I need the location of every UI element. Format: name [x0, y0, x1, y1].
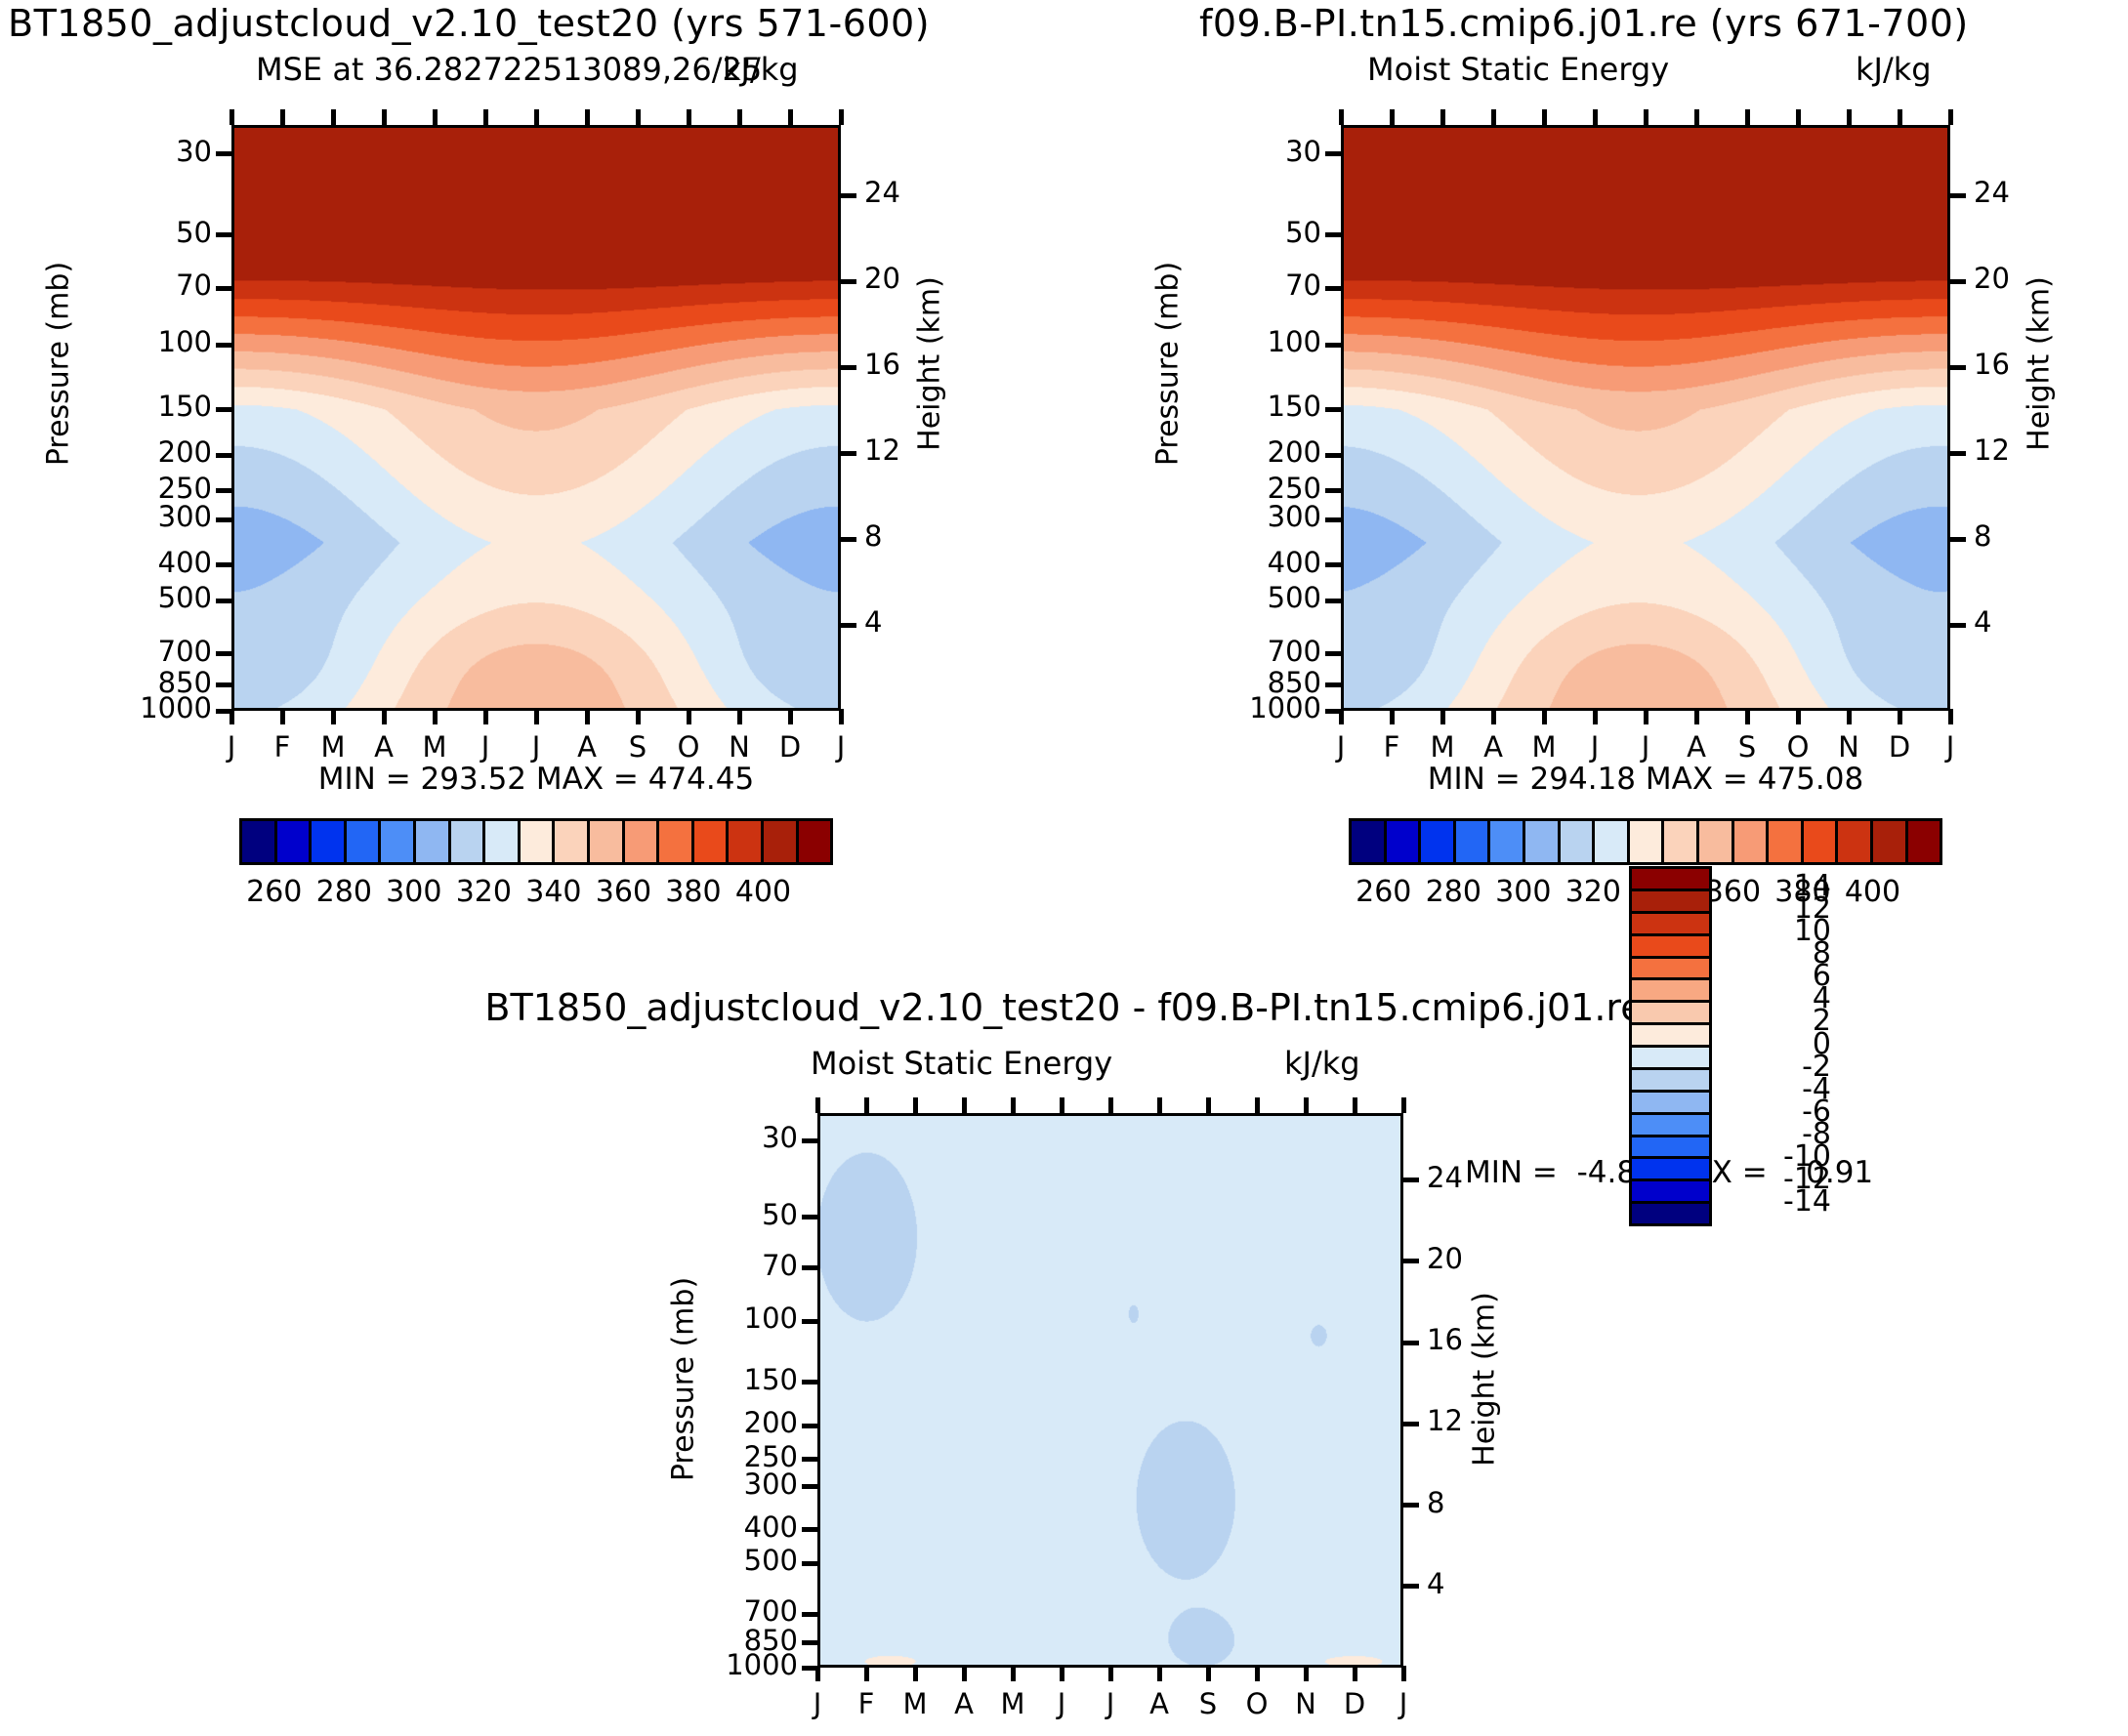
- colorbar-swatch[interactable]: [1632, 1204, 1709, 1223]
- colorbar-swatch[interactable]: [1632, 980, 1709, 1003]
- height-tick-mark: [1948, 537, 1966, 542]
- height-tick-mark: [1948, 623, 1966, 628]
- month-tick-mark: [433, 709, 438, 724]
- height-tick-mark: [1401, 1341, 1419, 1345]
- month-tick-label: N: [715, 730, 764, 764]
- month-tick-label: M: [410, 730, 459, 764]
- height-tick-label: 20: [1974, 262, 2042, 295]
- month-tick-label: O: [1773, 730, 1822, 764]
- pressure-tick-mark: [216, 407, 233, 412]
- month-tick-label: D: [1330, 1687, 1379, 1720]
- colorbar-swatch[interactable]: [694, 821, 730, 862]
- pressure-tick-mark: [1325, 517, 1343, 522]
- pressure-tick-mark: [802, 1457, 819, 1462]
- pressure-tick-mark: [802, 1527, 819, 1532]
- pressure-tick-label: 1000: [671, 1648, 798, 1681]
- colorbar-swatch[interactable]: [590, 821, 625, 862]
- height-tick-label: 16: [1974, 348, 2042, 381]
- pressure-tick-label: 400: [1194, 546, 1321, 579]
- month-tick-mark: [1390, 709, 1395, 724]
- panel-right-plot-area[interactable]: [1341, 125, 1950, 711]
- top-tick-mark: [1353, 1097, 1357, 1113]
- pressure-tick-mark: [1325, 453, 1343, 458]
- colorbar-swatch[interactable]: [1769, 821, 1804, 862]
- pressure-tick-label: 1000: [1194, 691, 1321, 724]
- month-tick-label: N: [1824, 730, 1873, 764]
- month-tick-mark: [962, 1666, 967, 1681]
- top-tick-mark: [1644, 109, 1648, 125]
- top-tick-mark: [1339, 109, 1344, 125]
- pressure-tick-mark: [802, 1138, 819, 1143]
- top-tick-mark: [636, 109, 641, 125]
- pressure-tick-label: 100: [1194, 325, 1321, 358]
- month-tick-label: J: [1379, 1687, 1428, 1720]
- month-tick-mark: [1304, 1666, 1309, 1681]
- top-tick-mark: [1796, 109, 1801, 125]
- panel-right-colorbar[interactable]: [1349, 818, 1942, 865]
- colorbar-swatch[interactable]: [1632, 1025, 1709, 1048]
- colorbar-swatch[interactable]: [1632, 1070, 1709, 1093]
- top-tick-mark: [913, 1097, 918, 1113]
- month-tick-label: J: [512, 730, 561, 764]
- panel-right-subtitle-units: kJ/kg: [1856, 51, 1932, 88]
- top-tick-mark: [1542, 109, 1547, 125]
- top-tick-mark: [1157, 1097, 1162, 1113]
- height-tick-label: 20: [1427, 1242, 1495, 1275]
- pressure-tick-mark: [216, 343, 233, 348]
- top-tick-mark: [382, 109, 387, 125]
- colorbar-swatch[interactable]: [555, 821, 590, 862]
- month-tick-mark: [1255, 1666, 1260, 1681]
- panel-left-title: BT1850_adjustcloud_v2.10_test20 (yrs 571…: [8, 2, 930, 45]
- pressure-tick-label: 30: [1194, 135, 1321, 168]
- height-tick-label: 24: [864, 176, 933, 209]
- top-tick-mark: [1390, 109, 1395, 125]
- pressure-tick-mark: [216, 599, 233, 603]
- pressure-tick-label: 500: [1194, 581, 1321, 614]
- pressure-tick-mark: [216, 562, 233, 567]
- month-tick-mark: [1948, 709, 1953, 724]
- month-tick-mark: [1011, 1666, 1016, 1681]
- top-tick-mark: [1011, 1097, 1016, 1113]
- month-tick-mark: [815, 1666, 820, 1681]
- colorbar-swatch[interactable]: [1525, 821, 1561, 862]
- height-tick-label: 8: [864, 519, 933, 553]
- pressure-tick-mark: [1325, 682, 1343, 687]
- colorbar-swatch[interactable]: [451, 821, 486, 862]
- colorbar-swatch[interactable]: [1632, 1003, 1709, 1025]
- height-tick-label: 16: [864, 348, 933, 381]
- height-tick-mark: [839, 451, 856, 456]
- panel-right-mse: f09.B-PI.tn15.cmip6.j01.re (yrs 671-700)…: [1102, 0, 1981, 918]
- pressure-tick-mark: [802, 1612, 819, 1617]
- pressure-tick-label: 300: [1194, 500, 1321, 533]
- top-tick-mark: [534, 109, 539, 125]
- top-tick-mark: [815, 1097, 820, 1113]
- height-tick-label: 24: [1974, 176, 2042, 209]
- colorbar-swatch[interactable]: [1632, 1115, 1709, 1137]
- colorbar-swatch[interactable]: [1561, 821, 1596, 862]
- month-tick-mark: [1108, 1666, 1113, 1681]
- colorbar-swatch[interactable]: [381, 821, 416, 862]
- colorbar-swatch[interactable]: [277, 821, 313, 862]
- pressure-tick-mark: [1325, 232, 1343, 237]
- pressure-tick-mark: [802, 1265, 819, 1270]
- month-tick-label: J: [1037, 1687, 1086, 1720]
- colorbar-swatch[interactable]: [1632, 1093, 1709, 1115]
- month-tick-label: S: [613, 730, 662, 764]
- month-tick-label: J: [1086, 1687, 1135, 1720]
- height-tick-mark: [1401, 1584, 1419, 1589]
- height-tick-mark: [839, 623, 856, 628]
- month-tick-mark: [483, 709, 488, 724]
- height-tick-mark: [1401, 1503, 1419, 1508]
- month-tick-mark: [1440, 709, 1445, 724]
- pressure-tick-label: 50: [1194, 216, 1321, 249]
- panel-left-colorbar[interactable]: [239, 818, 833, 865]
- month-tick-label: M: [1520, 730, 1568, 764]
- panel-left-mse: BT1850_adjustcloud_v2.10_test20 (yrs 571…: [0, 0, 879, 918]
- colorbar-swatch[interactable]: [1804, 821, 1839, 862]
- panel-diff-subtitle-units: kJ/kg: [1284, 1045, 1360, 1082]
- month-tick-mark: [1847, 709, 1852, 724]
- colorbar-swatch[interactable]: [1632, 936, 1709, 959]
- height-tick-mark: [1948, 279, 1966, 284]
- month-tick-mark: [839, 709, 844, 724]
- month-tick-mark: [913, 1666, 918, 1681]
- colorbar-swatch[interactable]: [1387, 821, 1422, 862]
- pressure-tick-label: 70: [1194, 269, 1321, 302]
- pressure-tick-label: 70: [671, 1249, 798, 1282]
- month-tick-label: J: [1926, 730, 1975, 764]
- pressure-tick-mark: [216, 651, 233, 656]
- colorbar-tick-label: 400: [1828, 875, 1916, 909]
- height-tick-mark: [1401, 1422, 1419, 1426]
- panel-left-plot-area[interactable]: [231, 125, 841, 711]
- top-tick-mark: [1255, 1097, 1260, 1113]
- colorbar-swatch[interactable]: [1664, 821, 1699, 862]
- pressure-tick-mark: [216, 682, 233, 687]
- pressure-tick-label: 50: [85, 216, 212, 249]
- colorbar-swatch[interactable]: [1632, 1181, 1709, 1204]
- height-tick-mark: [1948, 451, 1966, 456]
- pressure-tick-mark: [1325, 151, 1343, 156]
- height-tick-mark: [1401, 1259, 1419, 1263]
- top-tick-mark: [1206, 1097, 1211, 1113]
- pressure-tick-label: 500: [85, 581, 212, 614]
- month-tick-label: S: [1184, 1687, 1232, 1720]
- pressure-tick-mark: [1325, 599, 1343, 603]
- height-tick-mark: [1948, 193, 1966, 198]
- top-tick-mark: [1694, 109, 1699, 125]
- colorbar-swatch[interactable]: [1699, 821, 1734, 862]
- month-tick-label: A: [1672, 730, 1721, 764]
- colorbar-swatch[interactable]: [729, 821, 764, 862]
- pressure-tick-label: 500: [671, 1544, 798, 1577]
- height-tick-mark: [839, 365, 856, 370]
- panel-right-title: f09.B-PI.tn15.cmip6.j01.re (yrs 671-700): [1199, 2, 1969, 45]
- pressure-tick-mark: [1325, 343, 1343, 348]
- colorbar-swatch[interactable]: [1595, 821, 1630, 862]
- height-tick-label: 8: [1427, 1486, 1495, 1519]
- month-tick-label: J: [1621, 730, 1670, 764]
- pressure-tick-label: 1000: [85, 691, 212, 724]
- panel-right-subtitle: Moist Static Energy: [1367, 51, 1669, 88]
- pressure-tick-label: 700: [1194, 635, 1321, 668]
- month-tick-label: M: [891, 1687, 939, 1720]
- month-tick-label: D: [1875, 730, 1924, 764]
- pressure-tick-label: 150: [85, 390, 212, 423]
- month-tick-label: J: [1316, 730, 1365, 764]
- month-tick-mark: [1898, 709, 1902, 724]
- top-tick-mark: [1593, 109, 1598, 125]
- height-tick-mark: [1948, 365, 1966, 370]
- top-tick-mark: [229, 109, 234, 125]
- pressure-tick-label: 30: [671, 1121, 798, 1154]
- month-tick-label: J: [816, 730, 865, 764]
- pressure-tick-label: 400: [671, 1510, 798, 1544]
- top-tick-mark: [737, 109, 742, 125]
- height-tick-mark: [839, 279, 856, 284]
- height-tick-label: 8: [1974, 519, 2042, 553]
- month-tick-label: J: [793, 1687, 842, 1720]
- month-tick-label: F: [1367, 730, 1416, 764]
- colorbar-swatch[interactable]: [1352, 821, 1387, 862]
- pressure-tick-label: 300: [85, 500, 212, 533]
- colorbar-swatch[interactable]: [347, 821, 382, 862]
- top-tick-mark: [433, 109, 438, 125]
- month-tick-label: D: [766, 730, 814, 764]
- month-tick-label: J: [207, 730, 256, 764]
- pressure-tick-mark: [802, 1424, 819, 1428]
- month-tick-mark: [382, 709, 387, 724]
- panel-diff: BT1850_adjustcloud_v2.10_test20 - f09.B-…: [0, 957, 2128, 1736]
- panel-left-minmax: MIN = 293.52 MAX = 474.45: [231, 762, 841, 797]
- colorbar-swatch[interactable]: [1632, 869, 1709, 891]
- height-tick-label: 12: [1974, 434, 2042, 467]
- top-tick-mark: [962, 1097, 967, 1113]
- top-tick-mark: [1745, 109, 1750, 125]
- panel-diff-ylabel-height: Height (km): [1468, 1262, 1502, 1497]
- pressure-tick-label: 100: [85, 325, 212, 358]
- colorbar-swatch[interactable]: [1873, 821, 1908, 862]
- month-tick-label: J: [461, 730, 510, 764]
- top-tick-mark: [331, 109, 336, 125]
- pressure-tick-mark: [216, 151, 233, 156]
- height-tick-label: 4: [1427, 1567, 1495, 1600]
- month-tick-mark: [534, 709, 539, 724]
- pressure-tick-mark: [216, 286, 233, 291]
- height-tick-mark: [839, 537, 856, 542]
- panel-left-ylabel-pressure: Pressure (mb): [42, 247, 76, 481]
- month-tick-mark: [229, 709, 234, 724]
- month-tick-label: M: [988, 1687, 1037, 1720]
- month-tick-mark: [737, 709, 742, 724]
- panel-right-minmax: MIN = 294.18 MAX = 475.08: [1341, 762, 1950, 797]
- pressure-tick-mark: [216, 453, 233, 458]
- panel-left-subtitle: MSE at 36.282722513089,26/25: [256, 51, 762, 88]
- top-tick-mark: [585, 109, 590, 125]
- height-tick-label: 20: [864, 262, 933, 295]
- pressure-tick-label: 200: [85, 435, 212, 469]
- height-tick-label: 12: [864, 434, 933, 467]
- height-tick-label: 4: [1974, 605, 2042, 639]
- colorbar-swatch[interactable]: [799, 821, 831, 862]
- colorbar-swatch[interactable]: [1632, 1048, 1709, 1070]
- height-tick-mark: [839, 193, 856, 198]
- pressure-tick-mark: [802, 1484, 819, 1489]
- pressure-tick-label: 30: [85, 135, 212, 168]
- month-tick-label: O: [664, 730, 713, 764]
- pressure-tick-label: 150: [1194, 390, 1321, 423]
- top-tick-mark: [1401, 1097, 1406, 1113]
- pressure-tick-label: 300: [671, 1467, 798, 1501]
- top-tick-mark: [788, 109, 793, 125]
- month-tick-label: F: [258, 730, 307, 764]
- pressure-tick-label: 70: [85, 269, 212, 302]
- colorbar-swatch[interactable]: [312, 821, 347, 862]
- top-tick-mark: [839, 109, 844, 125]
- pressure-tick-label: 400: [85, 546, 212, 579]
- pressure-tick-label: 200: [1194, 435, 1321, 469]
- top-tick-mark: [1847, 109, 1852, 125]
- colorbar-swatch[interactable]: [1490, 821, 1525, 862]
- month-tick-mark: [1491, 709, 1496, 724]
- month-tick-mark: [1353, 1666, 1357, 1681]
- top-tick-mark: [1304, 1097, 1309, 1113]
- pressure-tick-mark: [1325, 407, 1343, 412]
- colorbar-swatch[interactable]: [1632, 891, 1709, 914]
- pressure-tick-mark: [802, 1319, 819, 1324]
- month-tick-mark: [1401, 1666, 1406, 1681]
- panel-diff-plot-area[interactable]: [817, 1113, 1403, 1668]
- month-tick-mark: [1206, 1666, 1211, 1681]
- height-tick-label: 16: [1427, 1323, 1495, 1356]
- month-tick-mark: [864, 1666, 869, 1681]
- month-tick-label: A: [1469, 730, 1518, 764]
- colorbar-swatch[interactable]: [485, 821, 521, 862]
- colorbar-swatch[interactable]: [659, 821, 694, 862]
- month-tick-label: M: [309, 730, 357, 764]
- colorbar-tick-label: -14: [1724, 1184, 1831, 1219]
- pressure-tick-label: 50: [671, 1198, 798, 1231]
- height-tick-label: 4: [864, 605, 933, 639]
- month-tick-mark: [636, 709, 641, 724]
- colorbar-swatch[interactable]: [1838, 821, 1873, 862]
- panel-right-ylabel-pressure: Pressure (mb): [1151, 247, 1186, 481]
- month-tick-label: S: [1723, 730, 1772, 764]
- pressure-tick-mark: [802, 1561, 819, 1566]
- month-tick-mark: [687, 709, 691, 724]
- month-tick-mark: [1542, 709, 1547, 724]
- top-tick-mark: [280, 109, 285, 125]
- colorbar-swatch[interactable]: [625, 821, 660, 862]
- month-tick-label: O: [1232, 1687, 1281, 1720]
- colorbar-swatch[interactable]: [521, 821, 556, 862]
- panel-diff-colorbar[interactable]: [1629, 866, 1712, 1226]
- month-tick-mark: [1157, 1666, 1162, 1681]
- pressure-tick-mark: [802, 1640, 819, 1645]
- pressure-tick-mark: [1325, 651, 1343, 656]
- month-tick-mark: [280, 709, 285, 724]
- colorbar-swatch[interactable]: [1908, 821, 1940, 862]
- month-tick-label: F: [842, 1687, 891, 1720]
- panel-left-subtitle-units: kJ/kg: [723, 51, 799, 88]
- top-tick-mark: [1948, 109, 1953, 125]
- pressure-tick-mark: [1325, 488, 1343, 493]
- month-tick-label: A: [939, 1687, 988, 1720]
- height-tick-mark: [1401, 1178, 1419, 1182]
- pressure-tick-label: 200: [671, 1406, 798, 1439]
- pressure-tick-label: 150: [671, 1363, 798, 1396]
- pressure-tick-mark: [216, 488, 233, 493]
- colorbar-swatch[interactable]: [1630, 821, 1665, 862]
- month-tick-mark: [331, 709, 336, 724]
- colorbar-swatch[interactable]: [1421, 821, 1456, 862]
- pressure-tick-mark: [216, 517, 233, 522]
- pressure-tick-label: 100: [671, 1302, 798, 1335]
- top-tick-mark: [1440, 109, 1445, 125]
- month-tick-mark: [1694, 709, 1699, 724]
- top-tick-mark: [1108, 1097, 1113, 1113]
- top-tick-mark: [687, 109, 691, 125]
- top-tick-mark: [1060, 1097, 1064, 1113]
- month-tick-mark: [788, 709, 793, 724]
- top-tick-mark: [1491, 109, 1496, 125]
- colorbar-swatch[interactable]: [764, 821, 799, 862]
- pressure-tick-label: 700: [85, 635, 212, 668]
- month-tick-label: N: [1281, 1687, 1330, 1720]
- colorbar-tick-label: 400: [719, 875, 807, 909]
- colorbar-swatch[interactable]: [416, 821, 451, 862]
- month-tick-label: J: [1570, 730, 1619, 764]
- month-tick-mark: [585, 709, 590, 724]
- colorbar-swatch[interactable]: [1632, 959, 1709, 981]
- colorbar-swatch[interactable]: [1734, 821, 1770, 862]
- pressure-tick-mark: [216, 232, 233, 237]
- panel-diff-subtitle: Moist Static Energy: [811, 1045, 1112, 1082]
- month-tick-mark: [1796, 709, 1801, 724]
- colorbar-swatch[interactable]: [1456, 821, 1491, 862]
- colorbar-swatch[interactable]: [242, 821, 277, 862]
- month-tick-label: A: [563, 730, 611, 764]
- pressure-tick-mark: [802, 1215, 819, 1219]
- pressure-tick-mark: [1325, 562, 1343, 567]
- colorbar-swatch[interactable]: [1632, 1137, 1709, 1160]
- top-tick-mark: [483, 109, 488, 125]
- month-tick-mark: [1745, 709, 1750, 724]
- height-tick-label: 12: [1427, 1404, 1495, 1437]
- pressure-tick-mark: [802, 1380, 819, 1385]
- pressure-tick-label: 700: [671, 1594, 798, 1628]
- month-tick-mark: [1339, 709, 1344, 724]
- colorbar-swatch[interactable]: [1632, 914, 1709, 936]
- pressure-tick-mark: [1325, 286, 1343, 291]
- top-tick-mark: [1898, 109, 1902, 125]
- month-tick-mark: [1060, 1666, 1064, 1681]
- month-tick-mark: [1593, 709, 1598, 724]
- month-tick-label: M: [1418, 730, 1467, 764]
- month-tick-label: A: [359, 730, 408, 764]
- colorbar-swatch[interactable]: [1632, 1159, 1709, 1181]
- month-tick-mark: [1644, 709, 1648, 724]
- top-tick-mark: [864, 1097, 869, 1113]
- month-tick-label: A: [1135, 1687, 1184, 1720]
